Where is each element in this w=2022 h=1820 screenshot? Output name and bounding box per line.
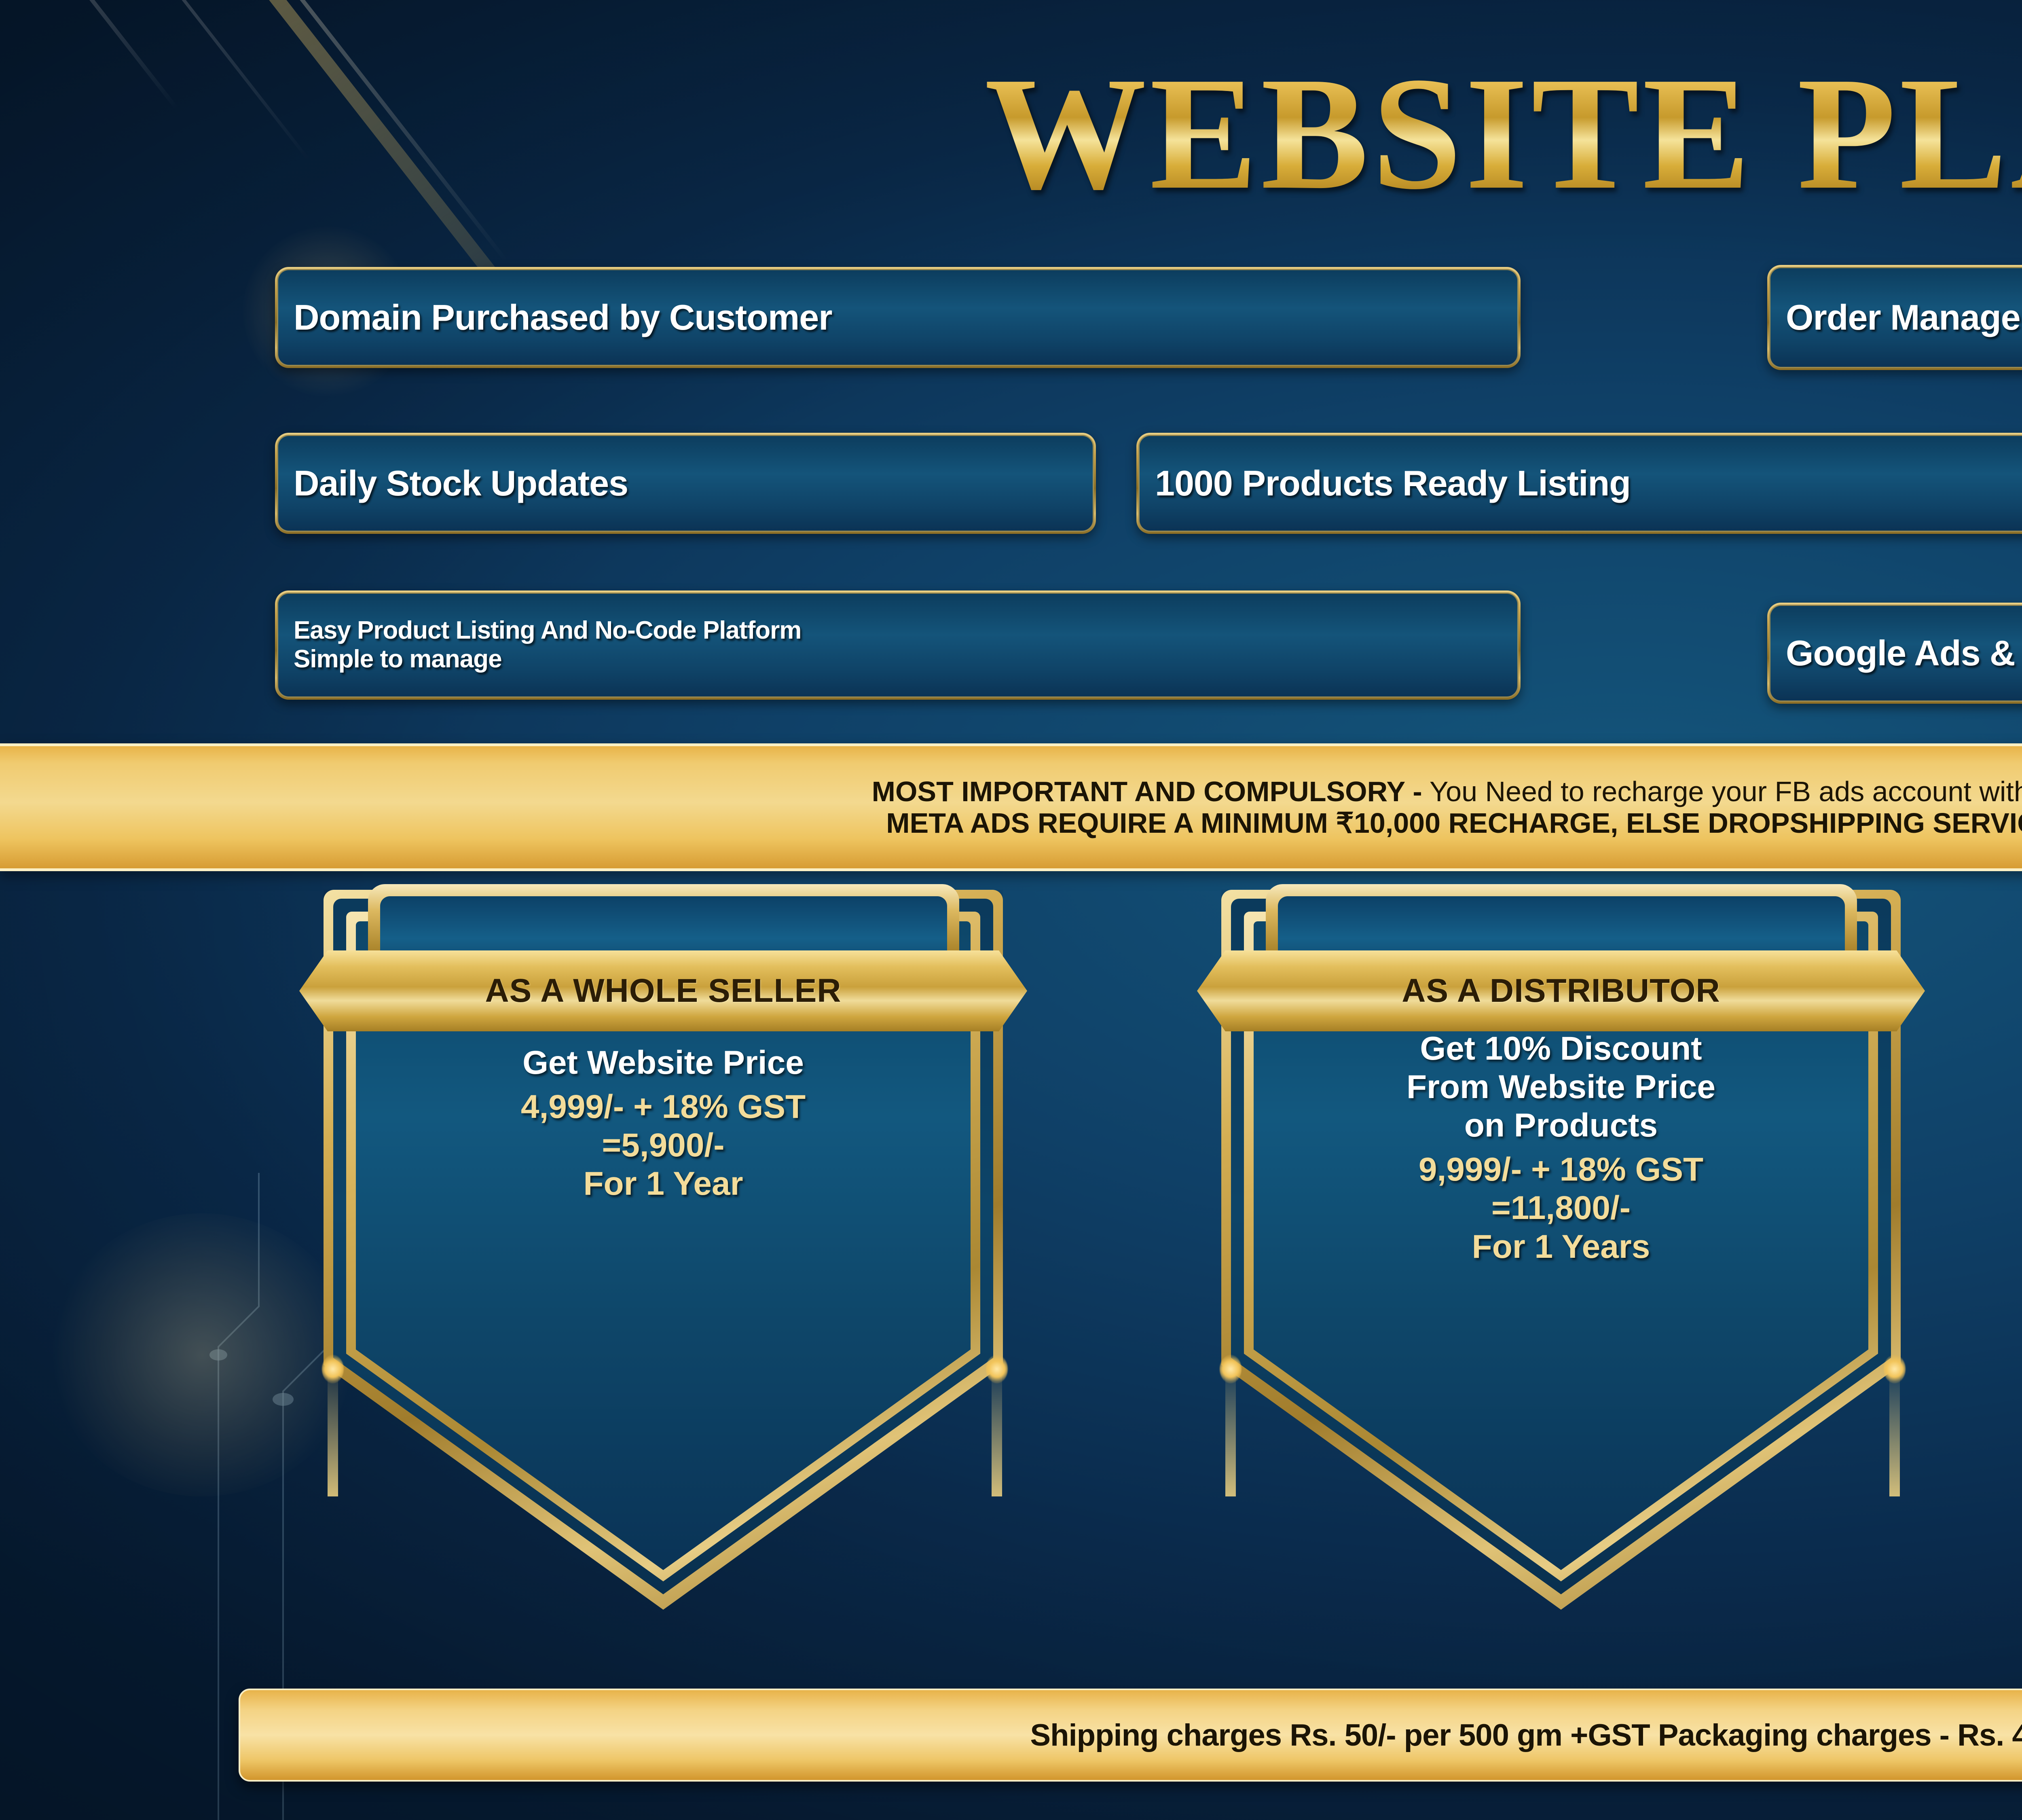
- plan-body: Get 10% Discount From Website Price on P…: [1278, 1029, 1844, 1266]
- feature-box-1000-products[interactable]: 1000 Products Ready Listing: [1136, 433, 2022, 534]
- feature-box-inner: Daily Stock Updates: [277, 435, 1094, 532]
- notice-line-1-rest: You Need to recharge your FB ads account…: [1422, 776, 2022, 807]
- shipping-charges-label: Shipping charges Rs. 50/- per 500 gm +GS…: [1030, 1718, 2022, 1753]
- notice-line-1-bold: MOST IMPORTANT AND COMPULSORY -: [872, 776, 1422, 807]
- shield-dot-right: [986, 1355, 1008, 1383]
- feature-box-inner: Google Ads & Meta Pixel Integration: [1769, 605, 2022, 702]
- feature-box-inner: 1000 Products Ready Listing: [1138, 435, 2022, 532]
- plan-body: Get Website Price 4,999/- + 18% GST =5,9…: [380, 1043, 946, 1203]
- plan-description: Get 10% Discount From Website Price on P…: [1278, 1029, 1844, 1145]
- feature-label: Order Management Panel: [1770, 299, 2022, 336]
- feature-box-google-ads-meta-pixel[interactable]: Google Ads & Meta Pixel Integration: [1767, 603, 2022, 704]
- feature-label: Google Ads & Meta Pixel Integration: [1770, 635, 2022, 672]
- feature-box-domain-purchased[interactable]: Domain Purchased by Customer: [275, 267, 1521, 368]
- feature-box-inner: Easy Product Listing And No-Code Platfor…: [277, 593, 1519, 698]
- notice-line-1: MOST IMPORTANT AND COMPULSORY - You Need…: [872, 776, 2022, 807]
- plan-price: 9,999/- + 18% GST =11,800/- For 1 Years: [1278, 1150, 1844, 1266]
- feature-label: Daily Stock Updates: [278, 465, 628, 502]
- page-title-container: WEBSITE PLAN: [0, 53, 2022, 214]
- plan-ribbon: AS A WHOLE SELLER: [299, 950, 1027, 1031]
- feature-box-inner: Domain Purchased by Customer: [277, 269, 1519, 366]
- feature-box-daily-stock[interactable]: Daily Stock Updates: [275, 433, 1096, 534]
- important-notice-banner: MOST IMPORTANT AND COMPULSORY - You Need…: [0, 743, 2022, 871]
- notice-line-2: META ADS REQUIRE A MINIMUM ₹10,000 RECHA…: [886, 807, 2022, 839]
- feature-label: 1000 Products Ready Listing: [1140, 465, 1631, 502]
- feature-box-order-management[interactable]: Order Management Panel No Monthly Hostin…: [1767, 265, 2022, 370]
- plan-description: Get Website Price: [380, 1043, 946, 1082]
- shield-dot-left: [322, 1355, 344, 1383]
- feature-box-inner: Order Management Panel No Monthly Hostin…: [1769, 267, 2022, 368]
- shield-dot-right: [1884, 1355, 1906, 1383]
- plan-ribbon: AS A DISTRIBUTOR: [1197, 950, 1925, 1031]
- plan-price: 4,999/- + 18% GST =5,900/- For 1 Year: [380, 1088, 946, 1203]
- shipping-charges-bar: Shipping charges Rs. 50/- per 500 gm +GS…: [239, 1689, 2022, 1782]
- plan-ribbon-label: AS A DISTRIBUTOR: [1402, 972, 1720, 1010]
- feature-box-easy-product-listing[interactable]: Easy Product Listing And No-Code Platfor…: [275, 590, 1521, 700]
- feature-label: Easy Product Listing And No-Code Platfor…: [278, 616, 801, 673]
- shield-dot-left: [1220, 1355, 1242, 1383]
- page-title: WEBSITE PLAN: [985, 53, 2022, 214]
- feature-label: Domain Purchased by Customer: [278, 299, 832, 336]
- plan-ribbon-label: AS A WHOLE SELLER: [485, 972, 841, 1010]
